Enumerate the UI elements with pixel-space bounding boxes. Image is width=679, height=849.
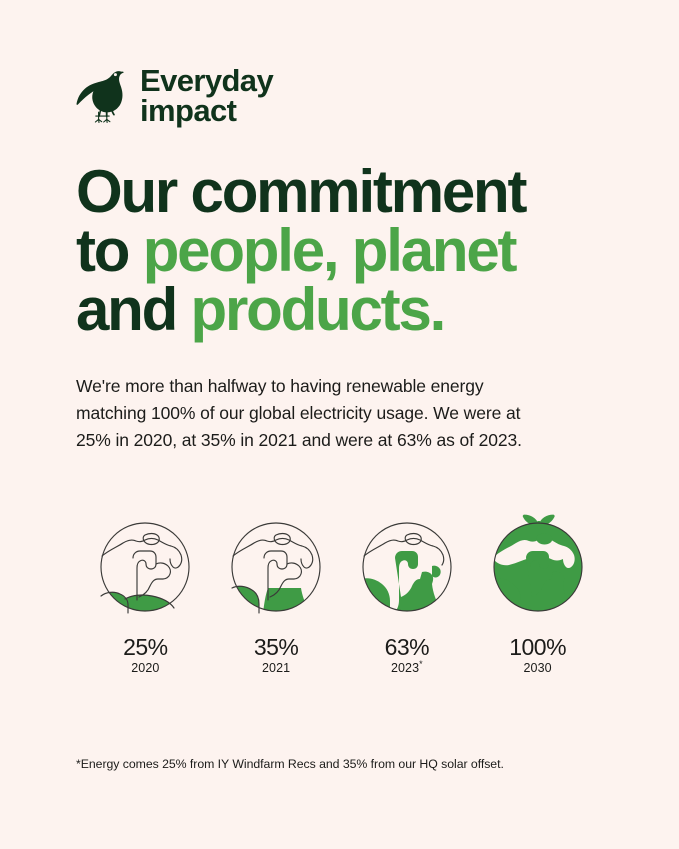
headline-line-3: and products. bbox=[76, 281, 603, 340]
stat-year-2030: 2030 bbox=[509, 662, 566, 676]
brand-logo: Everyday impact bbox=[76, 0, 603, 129]
infographic-page: Everyday impact Our commitment to people… bbox=[0, 0, 679, 849]
brand-wordmark-line2: impact bbox=[140, 96, 273, 125]
globe-icon-100 bbox=[485, 485, 591, 615]
headline-line-1: Our commitment bbox=[76, 163, 603, 222]
globe-icon-63 bbox=[354, 485, 460, 615]
progress-item-2023: 63% 2023* bbox=[342, 485, 473, 676]
stat-year-2020: 2020 bbox=[123, 662, 168, 676]
stat-2030: 100% 2030 bbox=[509, 635, 566, 676]
headline-accent-people-planet: people, planet bbox=[143, 217, 516, 284]
globe-icon-25 bbox=[92, 485, 198, 615]
stat-2023: 63% 2023* bbox=[385, 635, 430, 676]
footnote: *Energy comes 25% from IY Windfarm Recs … bbox=[76, 757, 504, 773]
brand-wordmark-line1: Everyday bbox=[140, 66, 273, 95]
headline-accent-products: products. bbox=[191, 276, 445, 343]
page-title: Our commitment to people, planet and pro… bbox=[76, 163, 603, 339]
stat-year-2023: 2023* bbox=[385, 662, 430, 676]
stat-year-2021: 2021 bbox=[254, 662, 299, 676]
brand-wordmark: Everyday impact bbox=[140, 66, 273, 125]
stat-2021: 35% 2021 bbox=[254, 635, 299, 676]
globe-icon-35 bbox=[223, 485, 329, 615]
headline-line-2: to people, planet bbox=[76, 222, 603, 281]
stat-percent-2023: 63% bbox=[385, 635, 430, 659]
progress-item-2030: 100% 2030 bbox=[472, 485, 603, 676]
bird-icon bbox=[76, 62, 124, 129]
stat-2020: 25% 2020 bbox=[123, 635, 168, 676]
progress-item-2021: 35% 2021 bbox=[211, 485, 342, 676]
headline-text-and: and bbox=[76, 276, 191, 343]
headline-text-commitment: Our commitment bbox=[76, 158, 525, 225]
stat-percent-2030: 100% bbox=[509, 635, 566, 659]
stat-percent-2021: 35% bbox=[254, 635, 299, 659]
body-paragraph: We're more than halfway to having renewa… bbox=[76, 373, 556, 453]
progress-globes-row: 25% 2020 bbox=[76, 485, 603, 676]
progress-item-2020: 25% 2020 bbox=[80, 485, 211, 676]
headline-text-to: to bbox=[76, 217, 143, 284]
stat-percent-2020: 25% bbox=[123, 635, 168, 659]
